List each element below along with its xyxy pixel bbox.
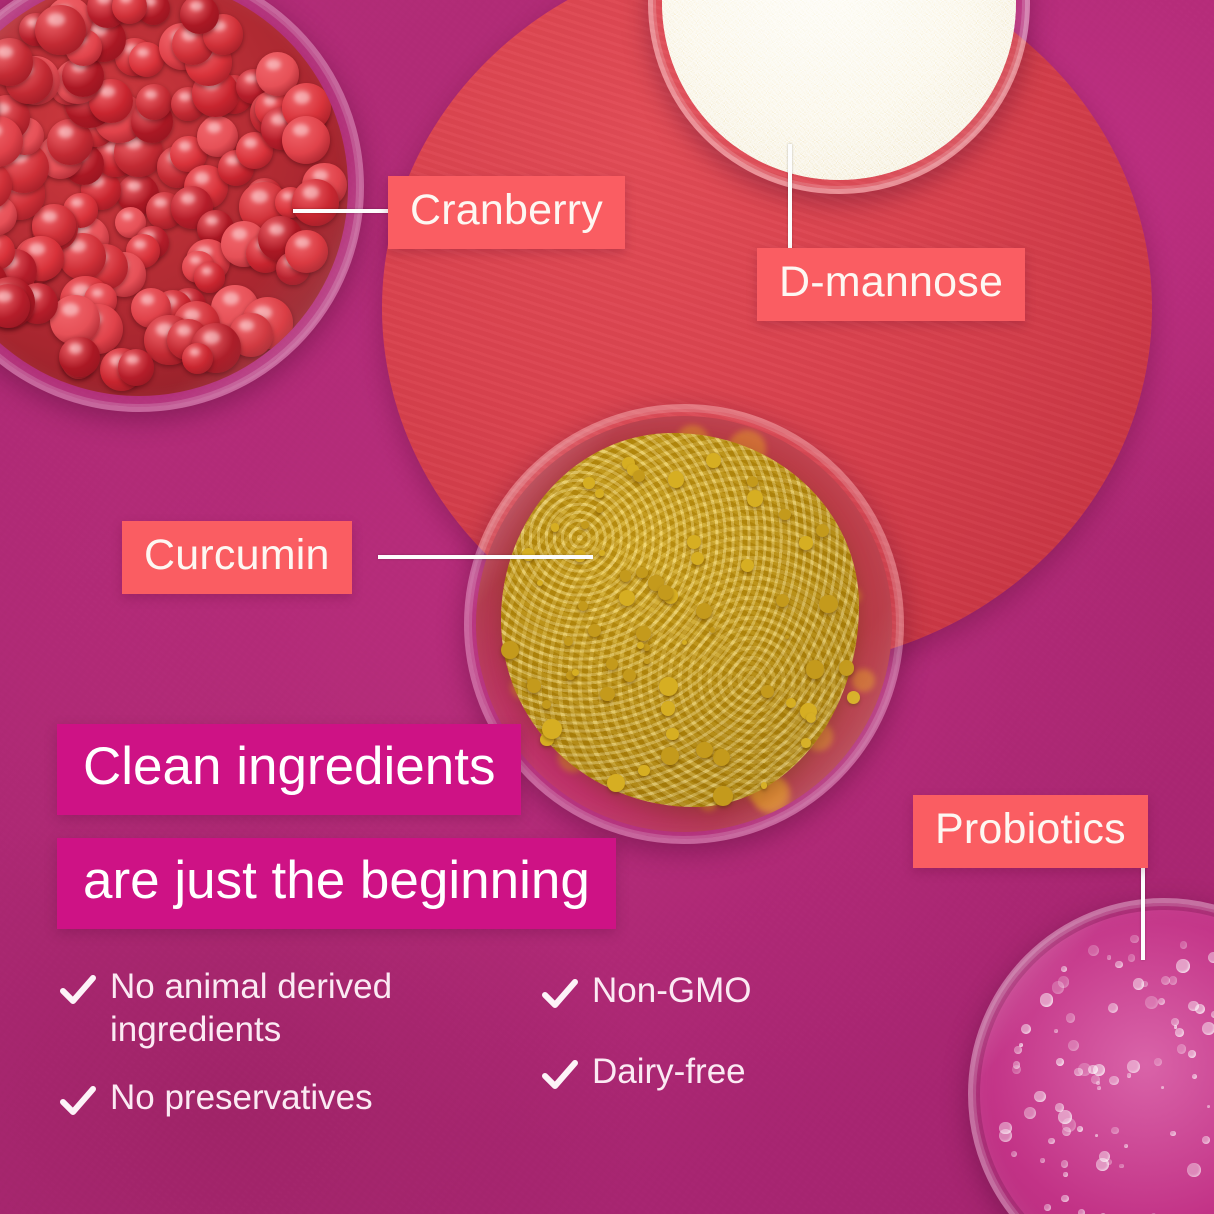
claim-text: No preservatives [110, 1077, 373, 1120]
ingredient-tag-label: Cranberry [410, 186, 603, 235]
leader-line-curcumin [378, 555, 593, 559]
leader-line-d-mannose [788, 144, 792, 250]
ingredient-tag-d-mannose[interactable]: D-mannose [757, 248, 1025, 321]
headline-line-1: Clean ingredients [57, 724, 521, 815]
headline-line-1-text: Clean ingredients [83, 736, 495, 797]
ingredient-tag-label: Curcumin [144, 531, 330, 580]
check-icon [58, 1081, 98, 1121]
leader-line-probiotics [1141, 856, 1145, 960]
claim-item: No preservatives [58, 1077, 528, 1120]
claim-text: No animal derived ingredients [110, 966, 528, 1051]
claim-text: Non-GMO [592, 970, 751, 1013]
headline-line-2-text: are just the beginning [83, 850, 590, 911]
ingredient-tag-probiotics[interactable]: Probiotics [913, 795, 1148, 868]
claim-item: No animal derived ingredients [58, 966, 528, 1051]
claim-item: Dairy-free [540, 1051, 870, 1094]
ingredient-tag-label: D-mannose [779, 258, 1003, 307]
claims-column-left: No animal derived ingredients No preserv… [58, 966, 528, 1146]
claims-column-right: Non-GMO Dairy-free [540, 970, 870, 1119]
check-icon [58, 970, 98, 1010]
ingredient-tag-label: Probiotics [935, 805, 1126, 854]
ingredient-infographic: Cranberry D-mannose Curcumin Probiotics … [0, 0, 1214, 1214]
headline-line-2: are just the beginning [57, 838, 616, 929]
ingredient-tag-cranberry[interactable]: Cranberry [388, 176, 625, 249]
claim-text: Dairy-free [592, 1051, 746, 1094]
ingredient-tag-curcumin[interactable]: Curcumin [122, 521, 352, 594]
claim-item: Non-GMO [540, 970, 870, 1013]
check-icon [540, 974, 580, 1014]
glass-rim-curcumin [464, 404, 904, 844]
leader-line-cranberry [293, 209, 393, 213]
petri-dish-curcumin [464, 404, 904, 844]
check-icon [540, 1055, 580, 1095]
petri-dish-d-mannose [648, 0, 1030, 194]
